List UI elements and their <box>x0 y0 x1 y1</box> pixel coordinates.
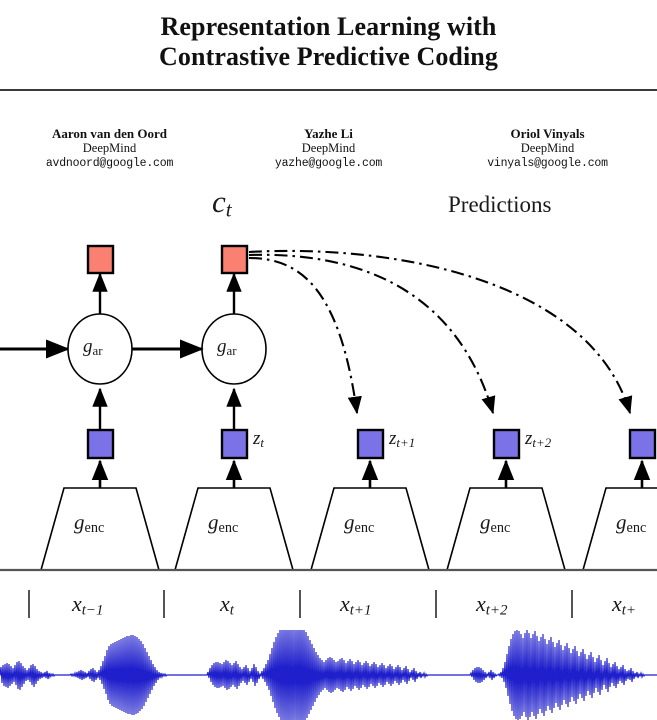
gar-symbol: g <box>217 336 227 357</box>
genc-symbol: g <box>74 510 85 534</box>
gar-subscript: ar <box>93 343 103 358</box>
author-email: yazhe@google.com <box>219 156 438 171</box>
encoder-label-t: genc <box>208 510 238 537</box>
input-label-t: xt <box>220 591 234 619</box>
context-vector-symbol: c <box>212 184 226 219</box>
header-divider <box>0 89 657 91</box>
genc-symbol: g <box>344 510 355 534</box>
latent-label-t-plus-1: zt+1 <box>389 428 415 451</box>
predictions-label: Predictions <box>448 192 552 218</box>
page-title: Representation Learning with Contrastive… <box>0 12 657 72</box>
prediction-curve-t-plus-2 <box>249 255 493 413</box>
prediction-curves <box>249 251 630 413</box>
latent-square-t-1 <box>88 430 113 458</box>
latent-square-t-plus-2 <box>494 430 519 458</box>
encoder-label-t-plus-3: genc <box>616 510 646 537</box>
author-email: vinyals@google.com <box>438 156 657 171</box>
author-affiliation: DeepMind <box>0 141 219 156</box>
genc-subscript: enc <box>219 520 239 536</box>
genc-symbol: g <box>480 510 491 534</box>
context-square-t <box>222 246 247 273</box>
gar-symbol: g <box>83 336 93 357</box>
cpc-architecture-figure: ct Predictions <box>0 178 657 720</box>
input-subscript: t+ <box>622 602 636 618</box>
author-name: Oriol Vinyals <box>438 126 657 141</box>
autoregressive-label-t: gar <box>217 336 237 359</box>
prediction-curve-t-plus-3 <box>249 251 630 413</box>
author-affiliation: DeepMind <box>219 141 438 156</box>
author-affiliation: DeepMind <box>438 141 657 156</box>
figure-canvas <box>0 178 657 720</box>
latent-square-t-plus-1 <box>358 430 383 458</box>
author-email: avdnoord@google.com <box>0 156 219 171</box>
input-symbol: x <box>220 591 230 616</box>
gar-subscript: ar <box>227 343 237 358</box>
genc-subscript: enc <box>627 520 647 536</box>
context-vector-subscript: t <box>226 198 232 222</box>
paper-page: Representation Learning with Contrastive… <box>0 0 657 720</box>
genc-symbol: g <box>208 510 219 534</box>
title-line-2: Contrastive Predictive Coding <box>0 42 657 72</box>
input-label-t-plus-3: xt+ <box>612 591 636 619</box>
prediction-curve-t-plus-1 <box>249 258 357 413</box>
input-symbol: x <box>72 591 82 616</box>
input-subscript: t <box>230 602 234 618</box>
encoder-label-t-1: genc <box>74 510 104 537</box>
encoder-label-t-plus-1: genc <box>344 510 374 537</box>
latent-label-t: zt <box>253 428 264 451</box>
encoder-label-t-plus-2: genc <box>480 510 510 537</box>
input-label-t-1: xt−1 <box>72 591 104 619</box>
latent-square-t <box>222 430 247 458</box>
latent-subscript: t+1 <box>396 435 415 450</box>
author-block-2: Yazhe Li DeepMind yazhe@google.com <box>219 126 438 171</box>
author-name: Aaron van den Oord <box>0 126 219 141</box>
input-symbol: x <box>340 591 350 616</box>
input-subscript: t+2 <box>486 602 508 618</box>
audio-waveform <box>0 626 657 720</box>
input-symbol: x <box>612 591 622 616</box>
latent-subscript: t+2 <box>532 435 551 450</box>
genc-symbol: g <box>616 510 627 534</box>
encoder-output-arrows <box>100 461 642 488</box>
latent-square-t-plus-3 <box>630 430 655 458</box>
input-subscript: t+1 <box>350 602 372 618</box>
author-name: Yazhe Li <box>219 126 438 141</box>
title-line-1: Representation Learning with <box>161 12 497 41</box>
waveform-path <box>0 626 657 720</box>
input-symbol: x <box>476 591 486 616</box>
latent-label-t-plus-2: zt+2 <box>525 428 551 451</box>
autoregressive-label-t-1: gar <box>83 336 103 359</box>
author-block-1: Aaron van den Oord DeepMind avdnoord@goo… <box>0 126 219 171</box>
context-square-t-1 <box>88 246 113 273</box>
context-vector-label: ct <box>212 184 232 223</box>
latent-subscript: t <box>260 435 264 450</box>
genc-subscript: enc <box>491 520 511 536</box>
input-label-t-plus-2: xt+2 <box>476 591 508 619</box>
input-label-t-plus-1: xt+1 <box>340 591 372 619</box>
genc-subscript: enc <box>85 520 105 536</box>
input-subscript: t−1 <box>82 602 104 618</box>
author-block-3: Oriol Vinyals DeepMind vinyals@google.co… <box>438 126 657 171</box>
author-list: Aaron van den Oord DeepMind avdnoord@goo… <box>0 126 657 171</box>
genc-subscript: enc <box>355 520 375 536</box>
